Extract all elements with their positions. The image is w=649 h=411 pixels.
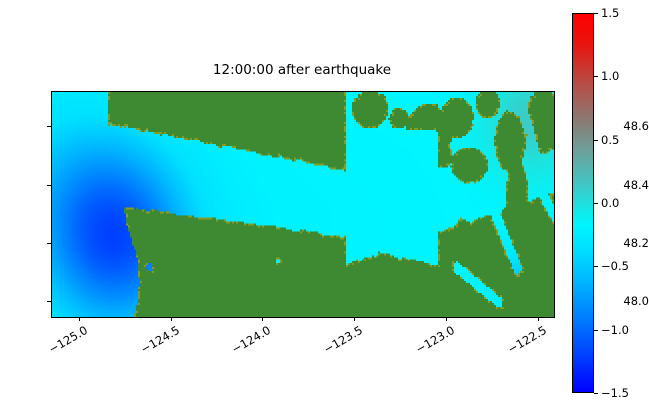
colorbar-tick-mark: [594, 13, 598, 14]
colorbar-tick-label: 0.0: [601, 196, 619, 210]
colorbar-tick-label: 1.0: [601, 69, 619, 83]
colorbar-tick-mark: [594, 76, 598, 77]
y-tick-mark: [47, 185, 51, 186]
colorbar-tick-mark: [594, 330, 598, 331]
colorbar-tick-label: −1.5: [601, 386, 629, 400]
x-tick-label: −123.5: [313, 323, 365, 361]
colorbar-tick-label: 1.5: [601, 6, 619, 20]
x-tick-mark: [538, 317, 539, 321]
x-tick-label: −125.0: [38, 323, 90, 361]
page-title: 12:00:00 after earthquake: [51, 62, 553, 78]
colorbar-tick-label: 0.5: [601, 133, 619, 147]
x-tick-label: −124.5: [129, 323, 181, 361]
y-tick-mark: [47, 301, 51, 302]
y-tick-label: 48.4: [605, 178, 649, 192]
colorbar-tick-mark: [594, 140, 598, 141]
figure-canvas: 12:00:00 after earthquake 1.51.00.50.0−0…: [0, 0, 649, 411]
y-tick-label: 48.2: [605, 236, 649, 250]
colorbar-gradient: [572, 13, 594, 393]
y-tick-label: 48.6: [605, 119, 649, 133]
x-tick-mark: [262, 317, 263, 321]
x-tick-mark: [171, 317, 172, 321]
x-tick-mark: [446, 317, 447, 321]
colorbar[interactable]: 1.51.00.50.0−0.5−1.0−1.5: [572, 13, 594, 393]
x-tick-label: −122.5: [497, 323, 549, 361]
colorbar-tick-mark: [594, 203, 598, 204]
y-tick-mark: [47, 126, 51, 127]
colorbar-tick-label: −0.5: [601, 259, 629, 273]
colorbar-tick-mark: [594, 266, 598, 267]
x-tick-label: −124.0: [221, 323, 273, 361]
sea-surface-height-heatmap: [52, 92, 554, 317]
colorbar-tick-label: −1.0: [601, 323, 629, 337]
x-tick-label: −123.0: [405, 323, 457, 361]
map-plot-area[interactable]: [51, 91, 555, 318]
y-tick-mark: [47, 243, 51, 244]
colorbar-tick-mark: [594, 393, 598, 394]
x-tick-mark: [354, 317, 355, 321]
y-tick-label: 48.0: [605, 294, 649, 308]
x-tick-mark: [79, 317, 80, 321]
